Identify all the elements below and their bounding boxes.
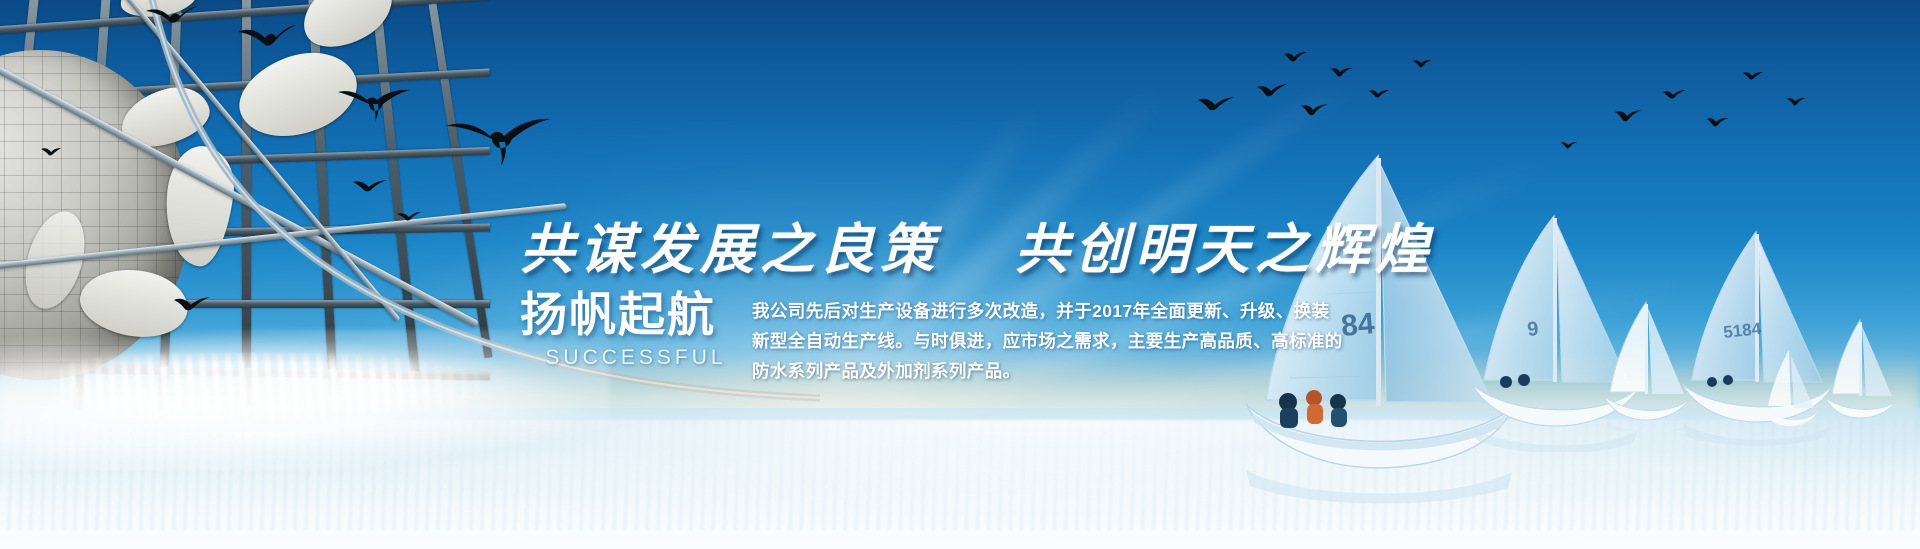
flying-eagle-icon: [1742, 70, 1764, 82]
sailboat-distant: [1760, 348, 1820, 432]
headline-english: SUCCESSFUL: [520, 346, 752, 370]
flying-eagle-icon: [1330, 66, 1354, 79]
ink-wash-strokes: [60, 352, 480, 422]
flying-eagle-icon: [336, 80, 414, 126]
headline-block: 扬帆起航 SUCCESSFUL 我公司先后对生产设备进行多次改造，并于2017年…: [520, 290, 1580, 386]
description-line: 我公司先后对生产设备进行多次改造，并于2017年全面更新、升级、换装: [752, 296, 1580, 326]
description-paragraph: 我公司先后对生产设备进行多次改造，并于2017年全面更新、升级、换装 新型全自动…: [752, 290, 1580, 386]
flying-eagle-icon: [352, 177, 388, 197]
calligraphy-phrase-left: 共谋发展之良策: [520, 220, 940, 280]
flying-eagle-icon: [1255, 82, 1289, 101]
description-line: 防水系列产品及外加剂系列产品。: [752, 356, 1580, 386]
svg-text:5184: 5184: [1722, 319, 1762, 342]
calligraphy-slogan: 共谋发展之良策 共创明天之辉煌: [520, 205, 1440, 284]
flying-eagle-icon: [40, 146, 62, 158]
sailboat-distant: [1598, 300, 1694, 430]
flying-eagle-icon: [172, 294, 212, 316]
calligraphy-phrase-right: 共创明天之辉煌: [1015, 220, 1435, 280]
flying-eagle-icon: [1196, 94, 1236, 116]
sailboat-distant: [1822, 318, 1900, 428]
flying-eagle-icon: [1368, 88, 1390, 100]
headline-column: 扬帆起航 SUCCESSFUL: [520, 290, 752, 370]
flying-eagle-icon: [1662, 88, 1688, 102]
promo-banner: 84 9: [0, 0, 1920, 549]
flying-eagle-icon: [144, 2, 198, 32]
flying-eagle-icon: [443, 110, 553, 172]
flying-eagle-icon: [1614, 108, 1644, 124]
flying-eagle-icon: [1412, 58, 1432, 69]
headline-chinese: 扬帆起航: [520, 290, 752, 339]
flying-eagle-icon: [1283, 50, 1309, 65]
flying-eagle-icon: [1706, 116, 1730, 129]
flying-eagle-icon: [1300, 102, 1330, 119]
flying-eagle-icon: [236, 20, 296, 54]
flying-eagle-icon: [1786, 96, 1806, 107]
description-line: 新型全自动生产线。与时俱进，应市场之需求，主要生产高品质、高标准的: [752, 326, 1580, 356]
flying-eagle-icon: [396, 210, 422, 224]
flying-eagle-icon: [1560, 140, 1578, 150]
